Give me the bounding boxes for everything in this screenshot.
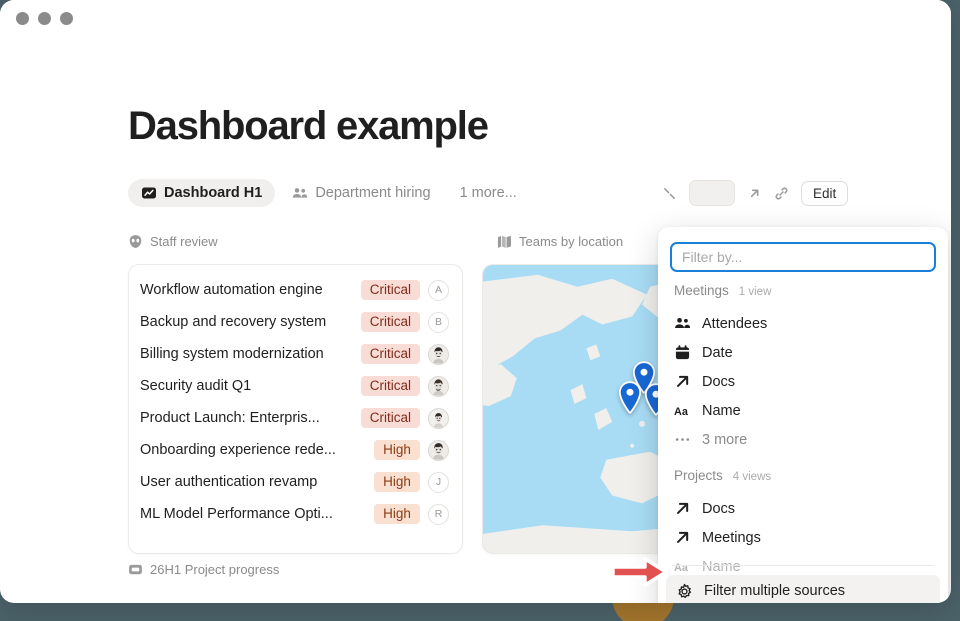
svg-text:Aa: Aa	[674, 562, 689, 574]
tab-label: Dashboard H1	[164, 185, 262, 201]
expand-icon[interactable]	[662, 186, 677, 201]
table-row[interactable]: Workflow automation engine Critical A	[129, 274, 462, 306]
filter-input[interactable]	[670, 242, 936, 272]
arrow-up-right-icon	[674, 373, 691, 390]
status-badge: Critical	[361, 376, 420, 396]
section-label-project-progress: 26H1 Project progress	[128, 562, 279, 577]
tabs-more-link[interactable]: 1 more...	[448, 185, 517, 201]
group-name: Projects	[674, 468, 723, 483]
group-count: 4 views	[733, 471, 771, 483]
menu-item-label: Meetings	[702, 530, 761, 546]
group-header-projects: Projects 4 views	[658, 468, 948, 494]
menu-item-attendees[interactable]: Attendees	[658, 309, 948, 338]
view-pill-icon[interactable]	[689, 180, 735, 206]
row-name: Workflow automation engine	[140, 282, 353, 298]
calendar-icon	[674, 344, 691, 361]
group-count: 1 view	[739, 286, 772, 298]
section-label-text: Staff review	[150, 234, 218, 249]
annotation-arrow-icon	[611, 555, 669, 589]
share-arrow-icon[interactable]	[747, 186, 762, 201]
table-row[interactable]: Onboarding experience rede... High	[129, 434, 462, 466]
row-name: User authentication revamp	[140, 474, 366, 490]
staff-review-list: Workflow automation engine Critical A Ba…	[129, 265, 462, 530]
avatar: A	[428, 280, 449, 301]
menu-item-docs[interactable]: Docs	[658, 367, 948, 396]
menu-item-date[interactable]: Date	[658, 338, 948, 367]
tab-department-hiring[interactable]: Department hiring	[279, 179, 443, 207]
tab-bar: Dashboard H1 Department hiring 1 more...	[128, 179, 517, 207]
status-badge: High	[374, 472, 420, 492]
status-badge: High	[374, 440, 420, 460]
table-row[interactable]: User authentication revamp High J	[129, 466, 462, 498]
menu-item-3-more[interactable]: 3 more	[658, 425, 948, 454]
avatar: B	[428, 312, 449, 333]
menu-item-label: Name	[702, 403, 741, 419]
link-icon[interactable]	[774, 186, 789, 201]
maximize-button[interactable]	[60, 12, 73, 25]
alien-face-icon	[128, 234, 143, 249]
minimize-button[interactable]	[38, 12, 51, 25]
staff-review-card: Workflow automation engine Critical A Ba…	[128, 264, 463, 554]
table-row[interactable]: Backup and recovery system Critical B	[129, 306, 462, 338]
chart-line-icon	[141, 185, 157, 201]
table-row[interactable]: Product Launch: Enterpris... Critical	[129, 402, 462, 434]
people-group-icon	[674, 315, 691, 332]
text-aa-icon: Aa	[674, 558, 691, 575]
menu-item-label: Docs	[702, 501, 735, 517]
avatar	[428, 440, 449, 461]
popover-divider	[672, 565, 934, 566]
close-button[interactable]	[16, 12, 29, 25]
menu-item-label: Date	[702, 345, 733, 361]
arrow-up-right-icon	[674, 529, 691, 546]
map-book-icon	[497, 234, 512, 249]
card-toolbar: Edit	[662, 178, 848, 208]
row-name: ML Model Performance Opti...	[140, 506, 366, 522]
board-icon	[128, 562, 143, 577]
avatar: R	[428, 504, 449, 525]
edit-button[interactable]: Edit	[801, 181, 848, 206]
avatar	[428, 376, 449, 397]
menu-item-label: Docs	[702, 374, 735, 390]
status-badge: Critical	[361, 408, 420, 428]
table-row[interactable]: ML Model Performance Opti... High R	[129, 498, 462, 530]
row-name: Backup and recovery system	[140, 314, 353, 330]
avatar	[428, 408, 449, 429]
status-badge: Critical	[361, 344, 420, 364]
status-badge: High	[374, 504, 420, 524]
tab-dashboard-h1[interactable]: Dashboard H1	[128, 179, 275, 207]
section-label-staff-review: Staff review	[128, 234, 218, 249]
page-title: Dashboard example	[128, 104, 488, 149]
window-controls	[16, 12, 73, 25]
status-badge: Critical	[361, 312, 420, 332]
tab-label: Department hiring	[315, 185, 430, 201]
row-name: Billing system modernization	[140, 346, 353, 362]
svg-text:Aa: Aa	[674, 406, 689, 418]
map-pin-icon[interactable]	[617, 381, 643, 415]
menu-item-label: Name	[702, 559, 741, 575]
menu-item-name[interactable]: Aa Name	[658, 396, 948, 425]
menu-item-projects-meetings[interactable]: Meetings	[658, 523, 948, 552]
row-name: Product Launch: Enterpris...	[140, 410, 353, 426]
app-window: Dashboard example Dashboard H1	[0, 0, 951, 603]
window-titlebar	[0, 0, 951, 38]
avatar	[428, 344, 449, 365]
section-label-teams-by-location: Teams by location	[497, 234, 623, 249]
avatar: J	[428, 472, 449, 493]
footer-label: Filter multiple sources	[704, 583, 845, 599]
status-badge: Critical	[361, 280, 420, 300]
filter-multiple-sources-button[interactable]: Filter multiple sources	[666, 575, 940, 603]
filter-source-popover: Meetings 1 view Attendees	[658, 227, 948, 603]
section-label-text: 26H1 Project progress	[150, 562, 279, 577]
popover-groups: Meetings 1 view Attendees	[658, 283, 948, 581]
gear-icon	[676, 583, 693, 600]
group-name: Meetings	[674, 283, 729, 298]
table-row[interactable]: Security audit Q1 Critical	[129, 370, 462, 402]
table-row[interactable]: Billing system modernization Critical	[129, 338, 462, 370]
menu-item-label: 3 more	[702, 432, 747, 448]
text-aa-icon: Aa	[674, 402, 691, 419]
row-name: Onboarding experience rede...	[140, 442, 366, 458]
people-group-icon	[292, 185, 308, 201]
section-label-text: Teams by location	[519, 234, 623, 249]
group-header-meetings: Meetings 1 view	[658, 283, 948, 309]
screen-root: Dashboard example Dashboard H1	[0, 0, 960, 621]
arrow-up-right-icon	[674, 500, 691, 517]
menu-item-label: Attendees	[702, 316, 767, 332]
row-name: Security audit Q1	[140, 378, 353, 394]
ellipsis-icon	[674, 431, 691, 448]
menu-item-projects-docs[interactable]: Docs	[658, 494, 948, 523]
